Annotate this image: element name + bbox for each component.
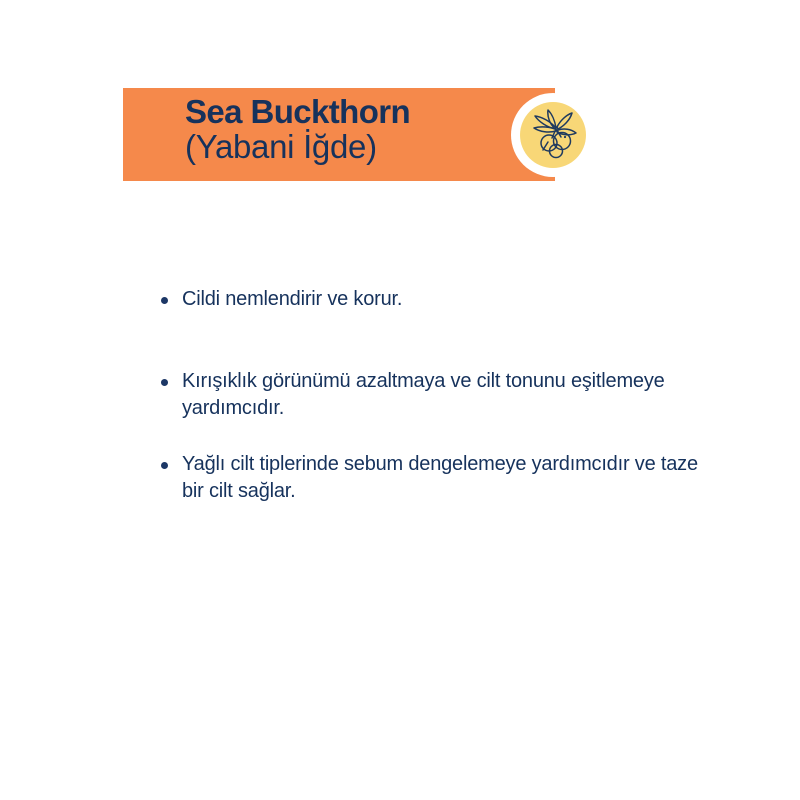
- list-item-text: Yağlı cilt tiplerinde sebum dengelemeye …: [182, 453, 698, 502]
- list-item: Yağlı cilt tiplerinde sebum dengelemeye …: [158, 451, 698, 505]
- bullet-dot-icon: [161, 462, 168, 469]
- ingredient-icon-badge: [511, 93, 595, 177]
- ingredient-title-block: Sea Buckthorn (Yabani İğde): [185, 95, 410, 163]
- ingredient-header-banner: Sea Buckthorn (Yabani İğde): [123, 88, 555, 181]
- bullet-dot-icon: [161, 379, 168, 386]
- product-ingredient-card: Sea Buckthorn (Yabani İğde): [0, 0, 800, 800]
- page-subtitle: (Yabani İğde): [185, 130, 410, 163]
- page-title: Sea Buckthorn: [185, 95, 410, 128]
- list-item: Cildi nemlendirir ve korur.: [158, 286, 698, 313]
- badge-yellow-circle: [520, 102, 586, 168]
- list-item: Kırışıklık görünümü azaltmaya ve cilt to…: [158, 368, 698, 422]
- benefits-list: Cildi nemlendirir ve korur. Kırışıklık g…: [158, 286, 698, 505]
- list-item-text: Kırışıklık görünümü azaltmaya ve cilt to…: [182, 370, 665, 419]
- bullet-dot-icon: [161, 297, 168, 304]
- sea-buckthorn-berry-branch-icon: [526, 108, 580, 162]
- list-item-text: Cildi nemlendirir ve korur.: [182, 288, 402, 310]
